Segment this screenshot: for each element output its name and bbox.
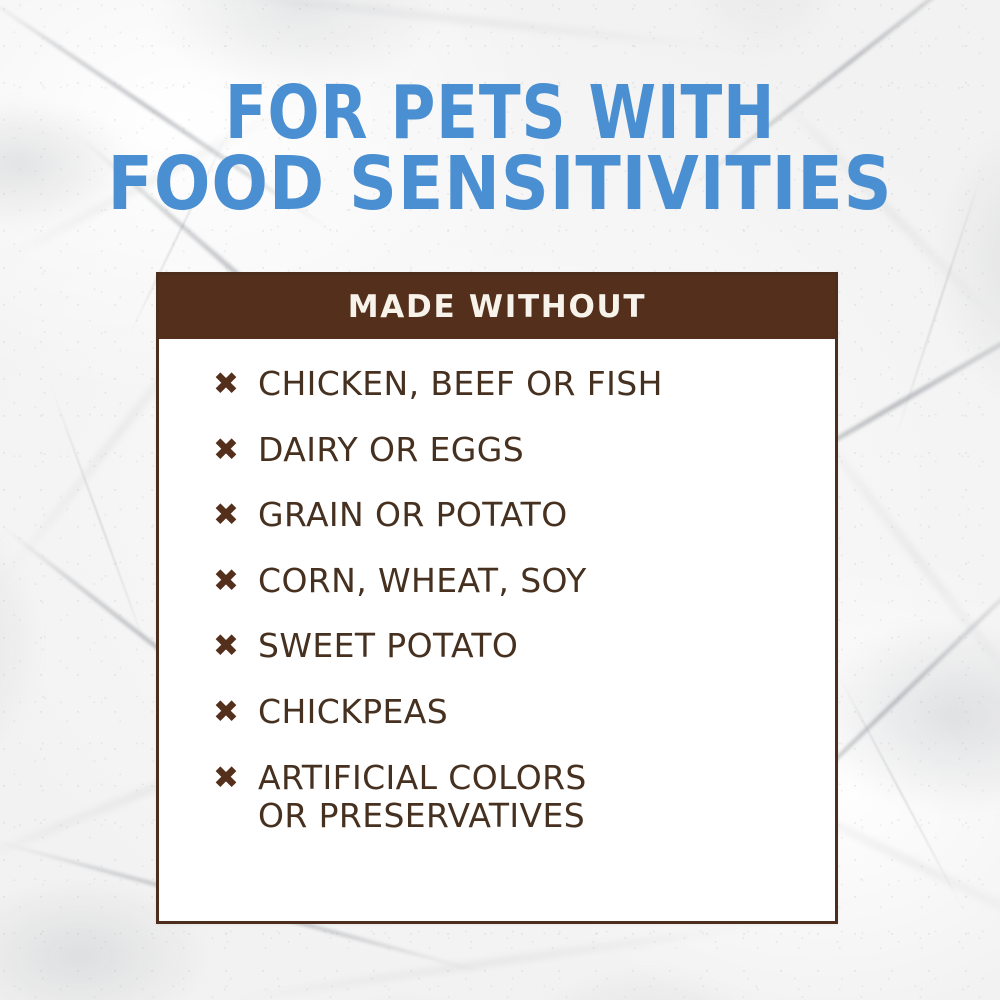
list-item-label: DAIRY OR EGGS	[258, 431, 524, 470]
list-item-label: CORN, WHEAT, SOY	[258, 562, 587, 601]
headline-line-2: FOOD SENSITIVITIES	[0, 149, 1000, 220]
x-mark-icon: ✖	[211, 759, 241, 797]
list-item: ✖ ARTIFICIAL COLORS OR PRESERVATIVES	[159, 759, 835, 836]
marketing-image-canvas: FOR PETS WITH FOOD SENSITIVITIES MADE WI…	[0, 0, 1000, 1000]
list-item: ✖ CHICKPEAS	[159, 693, 835, 732]
list-item: ✖ CHICKEN, BEEF OR FISH	[159, 365, 835, 404]
list-item-label: ARTIFICIAL COLORS OR PRESERVATIVES	[258, 759, 587, 836]
x-mark-icon: ✖	[211, 431, 241, 469]
list-item-label: CHICKPEAS	[258, 693, 448, 732]
made-without-card: MADE WITHOUT ✖ CHICKEN, BEEF OR FISH ✖ D…	[156, 272, 838, 924]
made-without-title: MADE WITHOUT	[348, 289, 647, 325]
list-item: ✖ CORN, WHEAT, SOY	[159, 562, 835, 601]
x-mark-icon: ✖	[211, 365, 241, 403]
x-mark-icon: ✖	[211, 693, 241, 731]
headline-line-1: FOR PETS WITH	[40, 78, 960, 149]
x-mark-icon: ✖	[211, 562, 241, 600]
made-without-card-body: ✖ CHICKEN, BEEF OR FISH ✖ DAIRY OR EGGS …	[159, 339, 835, 921]
list-item: ✖ DAIRY OR EGGS	[159, 431, 835, 470]
list-item-label: CHICKEN, BEEF OR FISH	[258, 365, 663, 404]
made-without-card-header: MADE WITHOUT	[159, 275, 835, 339]
headline: FOR PETS WITH FOOD SENSITIVITIES	[0, 78, 1000, 220]
list-item-label: GRAIN OR POTATO	[258, 496, 568, 535]
list-item: ✖ GRAIN OR POTATO	[159, 496, 835, 535]
list-item-label: SWEET POTATO	[258, 627, 518, 666]
excluded-ingredients-list: ✖ CHICKEN, BEEF OR FISH ✖ DAIRY OR EGGS …	[159, 365, 835, 836]
x-mark-icon: ✖	[211, 496, 241, 534]
list-item: ✖ SWEET POTATO	[159, 627, 835, 666]
x-mark-icon: ✖	[211, 627, 241, 665]
